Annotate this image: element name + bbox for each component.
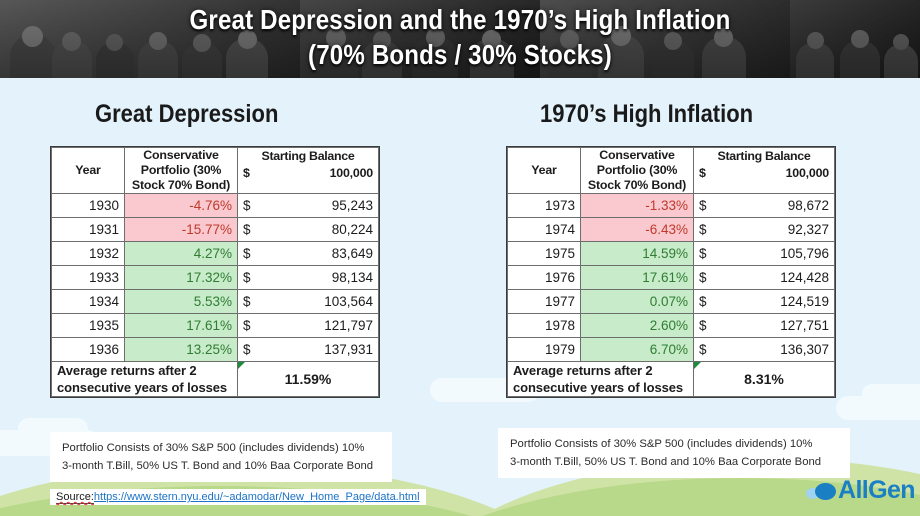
table-row: 193613.25%$137,931 (52, 338, 379, 362)
cell-year: 1973 (508, 194, 581, 218)
table-row: 19770.07%$124,519 (508, 290, 835, 314)
currency-symbol: $ (699, 318, 707, 333)
cell-year: 1979 (508, 338, 581, 362)
currency-symbol: $ (243, 294, 251, 309)
currency-symbol: $ (243, 222, 251, 237)
table-row: 1974-6.43%$92,327 (508, 218, 835, 242)
table-row: 197617.61%$124,428 (508, 266, 835, 290)
table-row: 19324.27%$83,649 (52, 242, 379, 266)
balance-value: 95,243 (332, 198, 373, 213)
cell-balance: $124,428 (694, 266, 835, 290)
cell-year: 1978 (508, 314, 581, 338)
table-row: 19796.70%$136,307 (508, 338, 835, 362)
cell-return-percent: 5.53% (125, 290, 238, 314)
balance-value: 124,519 (780, 294, 829, 309)
balance-value: 105,796 (780, 246, 829, 261)
cell-year: 1932 (52, 242, 125, 266)
cell-balance: $124,519 (694, 290, 835, 314)
summary-row: Average returns after 2 consecutive year… (52, 362, 379, 397)
cell-balance: $80,224 (238, 218, 379, 242)
currency-symbol: $ (243, 270, 251, 285)
cell-balance: $98,134 (238, 266, 379, 290)
starting-balance-label: Starting Balance (699, 149, 829, 164)
cell-return-percent: -15.77% (125, 218, 238, 242)
cell-year: 1930 (52, 194, 125, 218)
balance-value: 98,134 (332, 270, 373, 285)
footnote-right: Portfolio Consists of 30% S&P 500 (inclu… (498, 428, 850, 478)
currency-symbol: $ (699, 166, 706, 181)
cell-balance: $98,672 (694, 194, 835, 218)
starting-balance-label: Starting Balance (243, 149, 373, 164)
currency-symbol: $ (699, 294, 707, 309)
currency-symbol: $ (699, 198, 707, 213)
section-title-great-depression: Great Depression (95, 100, 278, 129)
cell-year: 1931 (52, 218, 125, 242)
cell-return-percent: 17.61% (581, 266, 694, 290)
table-row: 1931-15.77%$80,224 (52, 218, 379, 242)
great-depression-table: Year Conservative Portfolio (30% Stock 7… (50, 146, 380, 398)
col-header-starting-balance: Starting Balance $ 100,000 (238, 148, 379, 194)
cell-balance: $137,931 (238, 338, 379, 362)
cell-return-percent: 4.27% (125, 242, 238, 266)
balance-value: 137,931 (324, 342, 373, 357)
balance-value: 92,327 (788, 222, 829, 237)
starting-balance-value: 100,000 (330, 166, 373, 181)
source-link[interactable]: https://www.stern.nyu.edu/~adamodar/New_… (94, 491, 420, 503)
cell-return-percent: 14.59% (581, 242, 694, 266)
header-banner: Great Depression and the 1970’s High Inf… (0, 0, 920, 78)
table-row: 1973-1.33%$98,672 (508, 194, 835, 218)
cell-return-percent: 2.60% (581, 314, 694, 338)
cell-balance: $121,797 (238, 314, 379, 338)
balance-value: 127,751 (780, 318, 829, 333)
currency-symbol: $ (243, 246, 251, 261)
summary-label: Average returns after 2 consecutive year… (52, 362, 238, 397)
cell-return-percent: 17.61% (125, 314, 238, 338)
currency-symbol: $ (243, 342, 251, 357)
table-header-row: Year Conservative Portfolio (30% Stock 7… (508, 148, 835, 194)
page-title: Great Depression and the 1970’s High Inf… (64, 2, 855, 72)
col-header-conservative-portfolio: Conservative Portfolio (30% Stock 70% Bo… (125, 148, 238, 194)
currency-symbol: $ (699, 222, 707, 237)
cell-year: 1935 (52, 314, 125, 338)
table-row: 1930-4.76%$95,243 (52, 194, 379, 218)
balance-value: 136,307 (780, 342, 829, 357)
currency-symbol: $ (243, 318, 251, 333)
balance-value: 121,797 (324, 318, 373, 333)
cell-year: 1974 (508, 218, 581, 242)
cell-year: 1977 (508, 290, 581, 314)
section-title-1970s-inflation: 1970’s High Inflation (540, 100, 753, 129)
cell-year: 1934 (52, 290, 125, 314)
slide: Great Depression and the 1970’s High Inf… (0, 0, 920, 516)
inflation-table: Year Conservative Portfolio (30% Stock 7… (506, 146, 836, 398)
cell-year: 1975 (508, 242, 581, 266)
cell-return-percent: -6.43% (581, 218, 694, 242)
cell-return-percent: -4.76% (125, 194, 238, 218)
col-header-conservative-portfolio: Conservative Portfolio (30% Stock 70% Bo… (581, 148, 694, 194)
cell-balance: $83,649 (238, 242, 379, 266)
comment-marker-icon (694, 362, 701, 369)
starting-balance-value: 100,000 (786, 166, 829, 181)
table-row: 19345.53%$103,564 (52, 290, 379, 314)
col-header-starting-balance: Starting Balance $ 100,000 (694, 148, 835, 194)
logo-circle-large-icon (815, 483, 836, 500)
cell-balance: $92,327 (694, 218, 835, 242)
summary-value: 11.59% (238, 362, 379, 397)
balance-value: 103,564 (324, 294, 373, 309)
cell-balance: $105,796 (694, 242, 835, 266)
table-row: 193317.32%$98,134 (52, 266, 379, 290)
table-header-row: Year Conservative Portfolio (30% Stock 7… (52, 148, 379, 194)
currency-symbol: $ (243, 166, 250, 181)
summary-value-text: 11.59% (285, 371, 332, 387)
currency-symbol: $ (699, 342, 707, 357)
cell-balance: $95,243 (238, 194, 379, 218)
col-header-year: Year (508, 148, 581, 194)
table-body: 1930-4.76%$95,2431931-15.77%$80,22419324… (52, 194, 379, 362)
cell-return-percent: 13.25% (125, 338, 238, 362)
cell-balance: $136,307 (694, 338, 835, 362)
cell-balance: $127,751 (694, 314, 835, 338)
cell-year: 1976 (508, 266, 581, 290)
cell-return-percent: 0.07% (581, 290, 694, 314)
table-body: 1973-1.33%$98,6721974-6.43%$92,327197514… (508, 194, 835, 362)
cell-year: 1933 (52, 266, 125, 290)
currency-symbol: $ (699, 246, 707, 261)
cell-return-percent: -1.33% (581, 194, 694, 218)
summary-value-text: 8.31% (744, 371, 784, 387)
footnote-left: Portfolio Consists of 30% S&P 500 (inclu… (50, 432, 392, 482)
table-row: 193517.61%$121,797 (52, 314, 379, 338)
summary-row: Average returns after 2 consecutive year… (508, 362, 835, 397)
source-label: Source: (56, 491, 94, 504)
summary-value: 8.31% (694, 362, 835, 397)
balance-value: 98,672 (788, 198, 829, 213)
balance-value: 124,428 (780, 270, 829, 285)
cloud-icon (862, 384, 920, 404)
logo-text: AllGen (838, 476, 915, 505)
cell-balance: $103,564 (238, 290, 379, 314)
summary-label: Average returns after 2 consecutive year… (508, 362, 694, 397)
comment-marker-icon (238, 362, 245, 369)
cell-year: 1936 (52, 338, 125, 362)
source-line: Source:https://www.stern.nyu.edu/~adamod… (50, 489, 426, 505)
col-header-year: Year (52, 148, 125, 194)
cell-return-percent: 17.32% (125, 266, 238, 290)
balance-value: 83,649 (332, 246, 373, 261)
currency-symbol: $ (699, 270, 707, 285)
table-row: 19782.60%$127,751 (508, 314, 835, 338)
balance-value: 80,224 (332, 222, 373, 237)
cell-return-percent: 6.70% (581, 338, 694, 362)
table-row: 197514.59%$105,796 (508, 242, 835, 266)
currency-symbol: $ (243, 198, 251, 213)
